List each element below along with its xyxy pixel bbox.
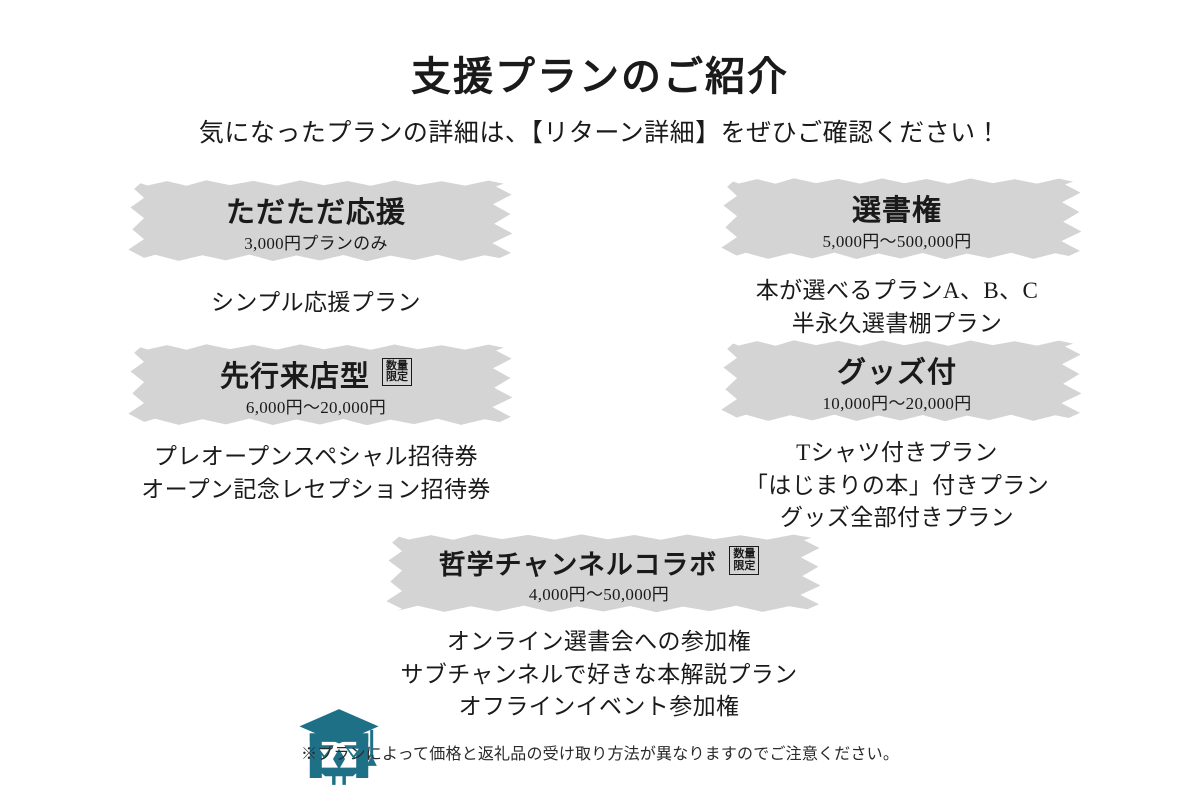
plan-card-book-selection: 選書権 5,000円〜500,000円 本が選べるプランA、B、C 半永久選書棚… bbox=[713, 178, 1081, 340]
limited-quantity-badge: 数量限定 bbox=[382, 358, 412, 386]
plan-item-list: 本が選べるプランA、B、C 半永久選書棚プラン bbox=[713, 275, 1081, 340]
plan-price: 3,000円プランのみ bbox=[120, 229, 512, 254]
plan-name: 哲学チャンネルコラボ bbox=[439, 543, 718, 582]
plan-item: シンプル応援プラン bbox=[120, 287, 512, 320]
plan-item: 半永久選書棚プラン bbox=[713, 308, 1081, 341]
plan-item: オンライン選書会への参加権 bbox=[378, 626, 820, 659]
badge-line-2: 限定 bbox=[386, 372, 408, 383]
plan-card-donation: ただただ応援 3,000円プランのみ シンプル応援プラン bbox=[120, 180, 512, 320]
badge-line-2: 限定 bbox=[733, 561, 755, 572]
plan-item: Tシャツ付きプラン bbox=[713, 437, 1081, 470]
plan-price: 4,000円〜50,000円 bbox=[378, 580, 820, 605]
plan-banner: グッズ付 10,000円〜20,000円 bbox=[713, 340, 1081, 421]
plan-item: オフラインイベント参加権 bbox=[378, 691, 820, 724]
plan-item: サブチャンネルで好きな本解説プラン bbox=[378, 659, 820, 692]
badge-line-1: 数量 bbox=[733, 549, 755, 560]
page-subtitle: 気になったプランの詳細は、【リターン詳細】をぜひご確認ください！ bbox=[0, 113, 1200, 149]
plan-price: 10,000円〜20,000円 bbox=[713, 389, 1081, 414]
plan-banner: 選書権 5,000円〜500,000円 bbox=[713, 178, 1081, 259]
plan-name: 選書権 bbox=[852, 187, 942, 229]
plan-item: 本が選べるプランA、B、C bbox=[713, 275, 1081, 308]
plan-item-list: オンライン選書会への参加権 サブチャンネルで好きな本解説プラン オフラインイベン… bbox=[378, 626, 820, 724]
plan-price: 6,000円〜20,000円 bbox=[120, 393, 512, 418]
plan-card-goods: グッズ付 10,000円〜20,000円 Tシャツ付きプラン 「はじまりの本」付… bbox=[713, 340, 1081, 535]
plan-card-philosophy-channel-collab: 哲学チャンネルコラボ数量限定 4,000円〜50,000円 bbox=[378, 534, 820, 724]
plan-item: プレオープンスペシャル招待券 bbox=[120, 441, 512, 474]
plan-price: 5,000円〜500,000円 bbox=[713, 227, 1081, 252]
plan-banner: ただただ応援 3,000円プランのみ bbox=[120, 180, 512, 261]
limited-quantity-badge: 数量限定 bbox=[729, 546, 759, 574]
plan-card-early-visit: 先行来店型数量限定 6,000円〜20,000円 プレオープンスペシャル招待券 … bbox=[120, 344, 512, 506]
plan-name: グッズ付 bbox=[837, 349, 957, 391]
plan-item-list: シンプル応援プラン bbox=[120, 287, 512, 320]
plan-item: オープン記念レセプション招待券 bbox=[120, 474, 512, 507]
plan-item-list: Tシャツ付きプラン 「はじまりの本」付きプラン グッズ全部付きプラン bbox=[713, 437, 1081, 535]
plan-item: 「はじまりの本」付きプラン bbox=[713, 470, 1081, 503]
plan-banner: 先行来店型数量限定 6,000円〜20,000円 bbox=[120, 344, 512, 425]
plan-item-list: プレオープンスペシャル招待券 オープン記念レセプション招待券 bbox=[120, 441, 512, 506]
plan-name: ただただ応援 bbox=[226, 189, 406, 231]
footnote-disclaimer: ※プランによって価格と返礼品の受け取り方法が異なりますのでご注意ください。 bbox=[0, 740, 1200, 764]
plan-item: グッズ全部付きプラン bbox=[713, 502, 1081, 535]
plan-name: 先行来店型 bbox=[220, 353, 370, 395]
infographic-page: 支援プランのご紹介 気になったプランの詳細は、【リターン詳細】をぜひご確認くださ… bbox=[0, 0, 1200, 800]
plan-banner: 哲学チャンネルコラボ数量限定 4,000円〜50,000円 bbox=[378, 534, 820, 612]
page-title: 支援プランのご紹介 bbox=[0, 44, 1200, 102]
